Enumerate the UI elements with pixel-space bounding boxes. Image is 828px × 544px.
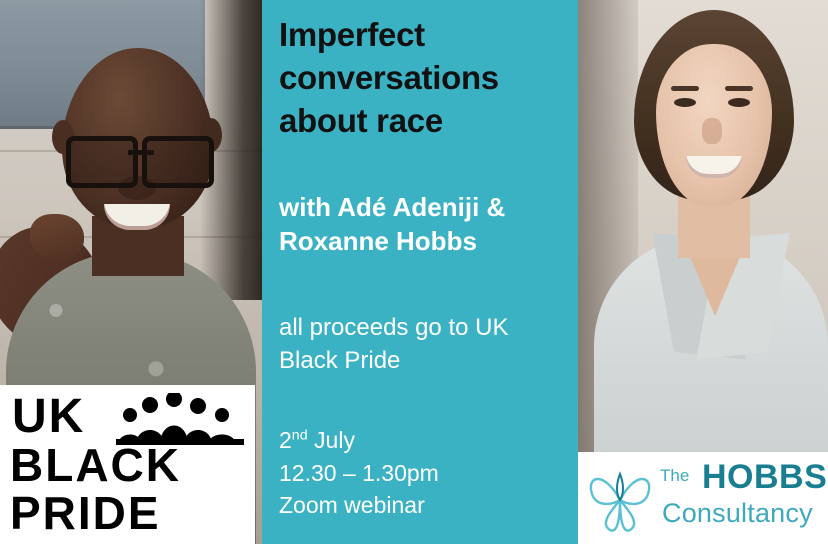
glasses-lens-left [66,136,138,188]
right-photo-eyebrow [671,86,699,91]
right-photo-eye [674,98,696,107]
event-date-day: 2 [279,427,292,453]
event-details: 2nd July 12.30 – 1.30pm Zoom webinar [279,424,569,522]
left-photo-hand [30,214,84,260]
right-photo-eye [728,98,750,107]
uk-black-pride-line1: UK [12,391,85,443]
page-title: Imperfect conversations about race [279,14,567,143]
crowd-silhouette-icon [116,393,244,445]
event-date-suffix: nd [292,427,308,443]
left-photo-glasses [66,136,214,180]
hobbs-logo-consultancy: Consultancy [662,498,813,529]
proceeds-line: all proceeds go to UK Black Pride [279,312,569,377]
uk-black-pride-line2: BLACK [10,440,181,490]
right-photo-nose [702,118,722,144]
butterfly-icon [584,460,658,534]
speakers-line: with Adé Adeniji & Roxanne Hobbs [279,190,569,259]
hobbs-logo-the: The [660,466,689,486]
right-photo-eyebrow [725,86,753,91]
webinar-promo-poster: Imperfect conversations about race with … [0,0,828,544]
event-time: 12.30 – 1.30pm [279,457,569,490]
hobbs-logo-name: HOBBS [702,458,827,497]
uk-black-pride-logo: UK [0,385,255,544]
event-date-month: July [308,427,355,453]
hobbs-consultancy-logo: The HOBBS Consultancy [578,452,828,544]
event-format: Zoom webinar [279,489,569,522]
uk-black-pride-top-row: UK [12,391,244,443]
text-panel: Imperfect conversations about race with … [262,0,578,544]
uk-black-pride-line3: PRIDE [10,488,161,538]
event-date: 2nd July [279,424,569,457]
glasses-lens-right [142,136,214,188]
